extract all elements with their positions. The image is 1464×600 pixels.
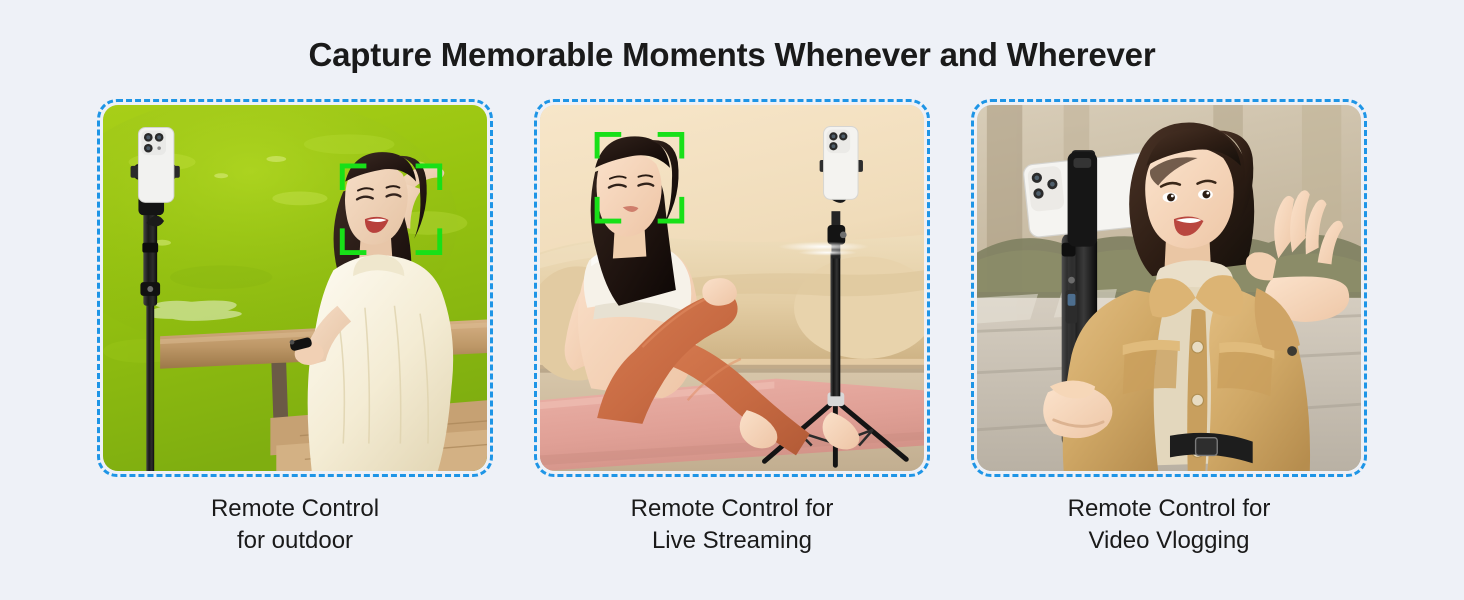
card-caption-video-vlogging: Remote Control for Video Vlogging — [1068, 493, 1271, 557]
live-streaming-scene-illustration — [540, 105, 924, 471]
caption-line-1: Remote Control — [211, 493, 379, 525]
photo-live-streaming — [540, 105, 924, 471]
feature-cards-row: Remote Control for outdoor — [0, 99, 1464, 557]
caption-line-1: Remote Control for — [1068, 493, 1271, 525]
promo-banner: Capture Memorable Moments Whenever and W… — [0, 0, 1464, 600]
caption-line-2: Live Streaming — [631, 525, 834, 557]
outdoor-scene-illustration — [103, 105, 487, 471]
feature-card-live-streaming[interactable]: Remote Control for Live Streaming — [534, 99, 930, 557]
photo-outdoor — [103, 105, 487, 471]
photo-frame-live-streaming — [534, 99, 930, 477]
card-caption-live-streaming: Remote Control for Live Streaming — [631, 493, 834, 557]
feature-card-video-vlogging[interactable]: Remote Control for Video Vlogging — [971, 99, 1367, 557]
card-caption-outdoor: Remote Control for outdoor — [211, 493, 379, 557]
video-vlogging-scene-illustration — [977, 105, 1361, 471]
caption-line-2: Video Vlogging — [1068, 525, 1271, 557]
caption-line-1: Remote Control for — [631, 493, 834, 525]
feature-card-outdoor[interactable]: Remote Control for outdoor — [97, 99, 493, 557]
photo-video-vlogging — [977, 105, 1361, 471]
caption-line-2: for outdoor — [211, 525, 379, 557]
photo-frame-video-vlogging — [971, 99, 1367, 477]
page-title: Capture Memorable Moments Whenever and W… — [309, 35, 1156, 75]
photo-frame-outdoor — [97, 99, 493, 477]
